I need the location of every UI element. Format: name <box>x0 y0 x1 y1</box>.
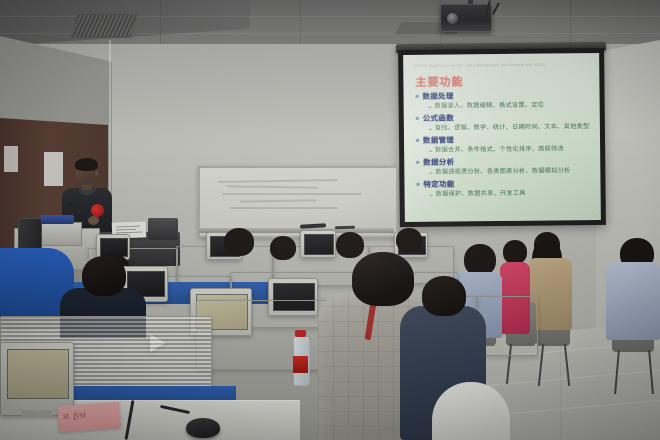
slide-section: 公式函数 查找、逻辑、数学、统计、日期时间、文本、其他类型 <box>414 111 598 134</box>
whiteboard-marks <box>230 207 338 209</box>
attendee-body <box>606 262 660 340</box>
slide-body: 数据处理 数据录入、数据编辑、格式设置、定位 公式函数 查找、逻辑、数学、统计、… <box>414 89 599 201</box>
front-equipment-blue-binder <box>40 215 74 224</box>
teacher-monitor <box>148 218 178 240</box>
presenter-ear <box>95 170 99 176</box>
bottle-cap <box>295 330 306 337</box>
computer-mouse <box>186 418 220 438</box>
paper-line <box>116 226 140 228</box>
water-bottle <box>293 330 308 384</box>
monitor-screen <box>7 349 69 399</box>
projector-lens-icon <box>447 13 458 24</box>
slide-section: 特定功能 数据保护、数据共享、开发工具 <box>414 177 598 200</box>
slide-section-detail: 数据合并、条件格式、个性化排序、高级筛选 <box>414 144 598 156</box>
slide-section: 数据分析 数据透视表分析、各类图表分析、数据模拟分析 <box>414 155 598 178</box>
student-head <box>396 228 422 252</box>
student-head <box>224 228 254 256</box>
monitor-stand <box>22 410 52 418</box>
front-equipment-box <box>40 222 82 246</box>
attendee-head <box>503 240 527 264</box>
slide-section: 数据处理 数据录入、数据编辑、格式设置、定位 <box>414 89 598 112</box>
ceiling-projector <box>440 4 492 32</box>
presenter-hand <box>88 216 99 225</box>
slide-section-detail: 查找、逻辑、数学、统计、日期时间、文本、其他类型 <box>414 122 598 134</box>
student-head <box>270 236 296 260</box>
slide-title: 主要功能 <box>415 73 463 90</box>
attendee-head <box>82 256 126 296</box>
floor-tile-seam <box>560 336 561 440</box>
slide-section-detail: 数据透视表分析、各类图表分析、数据模拟分析 <box>414 166 598 178</box>
whiteboard-marks <box>240 199 316 202</box>
classroom-photo: OFFICE Application Series - Data Managem… <box>0 0 660 440</box>
slide-page-number: 5 <box>595 213 597 217</box>
presenter-hair <box>75 158 98 171</box>
slide-header-text: OFFICE Application Series - Data Managem… <box>413 62 591 68</box>
ceiling-vent-grille <box>71 14 138 38</box>
whiteboard-marks <box>222 193 362 195</box>
sticky-note-text: st. fysi <box>63 409 87 421</box>
projection-screen-frame: OFFICE Application Series - Data Managem… <box>398 48 606 227</box>
ceiling-seam <box>570 0 571 44</box>
whiteboard-marks <box>226 185 318 189</box>
sticky-note: st. fysi <box>57 402 121 432</box>
slide-section: 数据管理 数据合并、条件格式、个性化排序、高级筛选 <box>414 133 598 156</box>
whiteboard-marks <box>218 179 338 183</box>
wall-sign <box>4 146 18 172</box>
slide-section-detail: 数据保护、数据共享、开发工具 <box>415 188 599 200</box>
presentation-slide: OFFICE Application Series - Data Managem… <box>403 53 601 222</box>
paper-line <box>116 229 136 231</box>
bottle-label <box>293 356 308 373</box>
projection-screen-surface: OFFICE Application Series - Data Managem… <box>403 53 601 222</box>
slide-section-detail: 数据录入、数据编辑、格式设置、定位 <box>414 100 598 112</box>
attendee-head <box>422 276 466 316</box>
